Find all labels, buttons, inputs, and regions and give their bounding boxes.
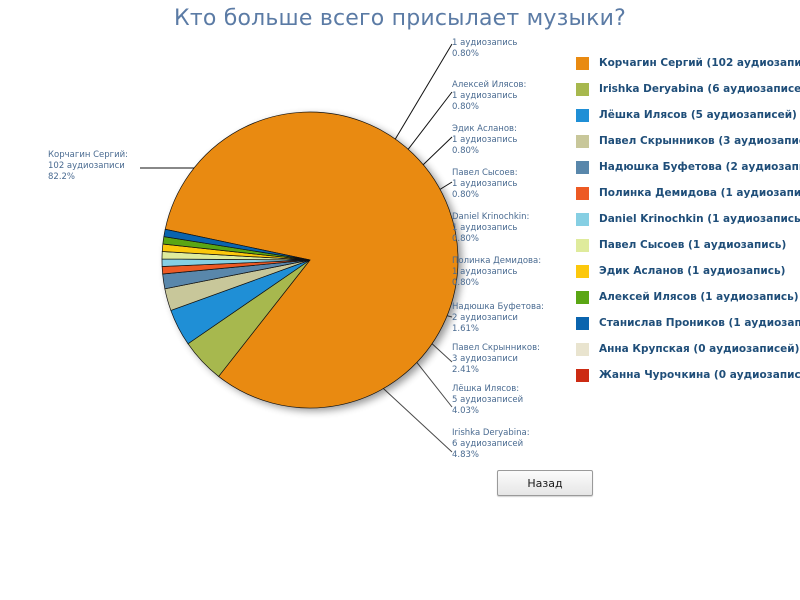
callout-count: 2 аудиозаписи <box>452 313 544 324</box>
callout-percent: 4.83% <box>452 450 530 461</box>
legend-item[interactable]: Анна Крупская (0 аудиозаписей) <box>576 336 791 362</box>
callout-slice: Алексей Илясов:1 аудиозапись0.80% <box>452 80 526 113</box>
callout-count: 1 аудиозапись <box>452 267 541 278</box>
legend-swatch-icon <box>576 317 589 330</box>
callout-percent: 0.80% <box>452 49 517 60</box>
legend-swatch-icon <box>576 83 589 96</box>
legend-item-label: Надюшка Буфетова (2 аудиозаписи) <box>599 161 800 173</box>
legend-item-label: Жанна Чурочкина (0 аудиозаписей) <box>599 369 800 381</box>
callout-name: Павел Сысоев: <box>452 168 518 179</box>
callout-percent: 4.03% <box>452 406 523 417</box>
legend-item-label: Алексей Илясов (1 аудиозапись) <box>599 291 799 303</box>
callout-count: 1 аудиозапись <box>452 38 517 49</box>
legend-item[interactable]: Станислав Проников (1 аудиозапись) <box>576 310 791 336</box>
back-button[interactable]: Назад <box>497 470 593 496</box>
legend-swatch-icon <box>576 161 589 174</box>
legend-item-label: Корчагин Сергий (102 аудиозаписи) <box>599 57 800 69</box>
legend-item-label: Павел Скрынников (3 аудиозаписи) <box>599 135 800 147</box>
callout-slice: Павел Сысоев:1 аудиозапись0.80% <box>452 168 518 201</box>
callout-slice: Надюшка Буфетова:2 аудиозаписи1.61% <box>452 302 544 335</box>
legend-swatch-icon <box>576 369 589 382</box>
callout-name: Полинка Демидова: <box>452 256 541 267</box>
callout-percent: 0.80% <box>452 278 541 289</box>
callout-percent: 0.80% <box>452 234 529 245</box>
pie-chart <box>160 108 470 418</box>
chart-page: Кто больше всего присылает музыки? Корча… <box>0 0 800 600</box>
legend-swatch-icon <box>576 135 589 148</box>
callout-slice: Эдик Асланов:1 аудиозапись0.80% <box>452 124 517 157</box>
callout-slice: Daniel Krinochkin:1 аудиозапись0.80% <box>452 212 529 245</box>
legend-item[interactable]: Полинка Демидова (1 аудиозапись) <box>576 180 791 206</box>
legend-item[interactable]: Надюшка Буфетова (2 аудиозаписи) <box>576 154 791 180</box>
legend-item-label: Полинка Демидова (1 аудиозапись) <box>599 187 800 199</box>
legend-item[interactable]: Эдик Асланов (1 аудиозапись) <box>576 258 791 284</box>
callout-percent: 0.80% <box>452 102 526 113</box>
legend-item[interactable]: Алексей Илясов (1 аудиозапись) <box>576 284 791 310</box>
callout-name: Алексей Илясов: <box>452 80 526 91</box>
legend: Корчагин Сергий (102 аудиозаписи)Irishka… <box>576 50 791 388</box>
callout-main: Корчагин Сергий: 102 аудиозаписи 82.2% <box>48 150 128 183</box>
callout-count: 3 аудиозаписи <box>452 354 540 365</box>
legend-swatch-icon <box>576 291 589 304</box>
callout-name: Эдик Асланов: <box>452 124 517 135</box>
legend-item-label: Лёшка Илясов (5 аудиозаписей) <box>599 109 797 121</box>
callout-name: Корчагин Сергий: <box>48 150 128 161</box>
callout-percent: 0.80% <box>452 146 517 157</box>
legend-swatch-icon <box>576 213 589 226</box>
legend-item[interactable]: Лёшка Илясов (5 аудиозаписей) <box>576 102 791 128</box>
legend-item-label: Irishka Deryabina (6 аудиозаписей) <box>599 83 800 95</box>
legend-item[interactable]: Irishka Deryabina (6 аудиозаписей) <box>576 76 791 102</box>
legend-swatch-icon <box>576 109 589 122</box>
legend-swatch-icon <box>576 265 589 278</box>
pie-slices <box>160 108 470 418</box>
callout-slice: Павел Скрынников:3 аудиозаписи2.41% <box>452 343 540 376</box>
callout-slice: Лёшка Илясов:5 аудиозаписей4.03% <box>452 384 523 417</box>
callout-name: Irishka Deryabina: <box>452 428 530 439</box>
callout-slice: Irishka Deryabina:6 аудиозаписей4.83% <box>452 428 530 461</box>
legend-item-label: Эдик Асланов (1 аудиозапись) <box>599 265 785 277</box>
callout-slice: 1 аудиозапись0.80% <box>452 38 517 60</box>
callout-percent: 82.2% <box>48 172 128 183</box>
legend-item[interactable]: Корчагин Сергий (102 аудиозаписи) <box>576 50 791 76</box>
page-title: Кто больше всего присылает музыки? <box>0 6 800 31</box>
legend-item[interactable]: Павел Скрынников (3 аудиозаписи) <box>576 128 791 154</box>
legend-swatch-icon <box>576 239 589 252</box>
callout-count: 1 аудиозапись <box>452 135 517 146</box>
callout-count: 5 аудиозаписей <box>452 395 523 406</box>
legend-swatch-icon <box>576 187 589 200</box>
callout-count: 102 аудиозаписи <box>48 161 128 172</box>
callout-name: Павел Скрынников: <box>452 343 540 354</box>
callout-name: Daniel Krinochkin: <box>452 212 529 223</box>
legend-item[interactable]: Павел Сысоев (1 аудиозапись) <box>576 232 791 258</box>
legend-item-label: Daniel Krinochkin (1 аудиозапись) <box>599 213 800 225</box>
callout-count: 1 аудиозапись <box>452 223 529 234</box>
callout-name: Надюшка Буфетова: <box>452 302 544 313</box>
callout-percent: 2.41% <box>452 365 540 376</box>
legend-item-label: Станислав Проников (1 аудиозапись) <box>599 317 800 329</box>
legend-swatch-icon <box>576 57 589 70</box>
legend-swatch-icon <box>576 343 589 356</box>
callout-count: 1 аудиозапись <box>452 179 518 190</box>
legend-item[interactable]: Жанна Чурочкина (0 аудиозаписей) <box>576 362 791 388</box>
callout-name: Лёшка Илясов: <box>452 384 523 395</box>
callout-count: 6 аудиозаписей <box>452 439 530 450</box>
callout-slice: Полинка Демидова:1 аудиозапись0.80% <box>452 256 541 289</box>
callout-percent: 0.80% <box>452 190 518 201</box>
legend-item-label: Анна Крупская (0 аудиозаписей) <box>599 343 799 355</box>
callout-percent: 1.61% <box>452 324 544 335</box>
callout-count: 1 аудиозапись <box>452 91 526 102</box>
legend-item-label: Павел Сысоев (1 аудиозапись) <box>599 239 786 251</box>
legend-item[interactable]: Daniel Krinochkin (1 аудиозапись) <box>576 206 791 232</box>
